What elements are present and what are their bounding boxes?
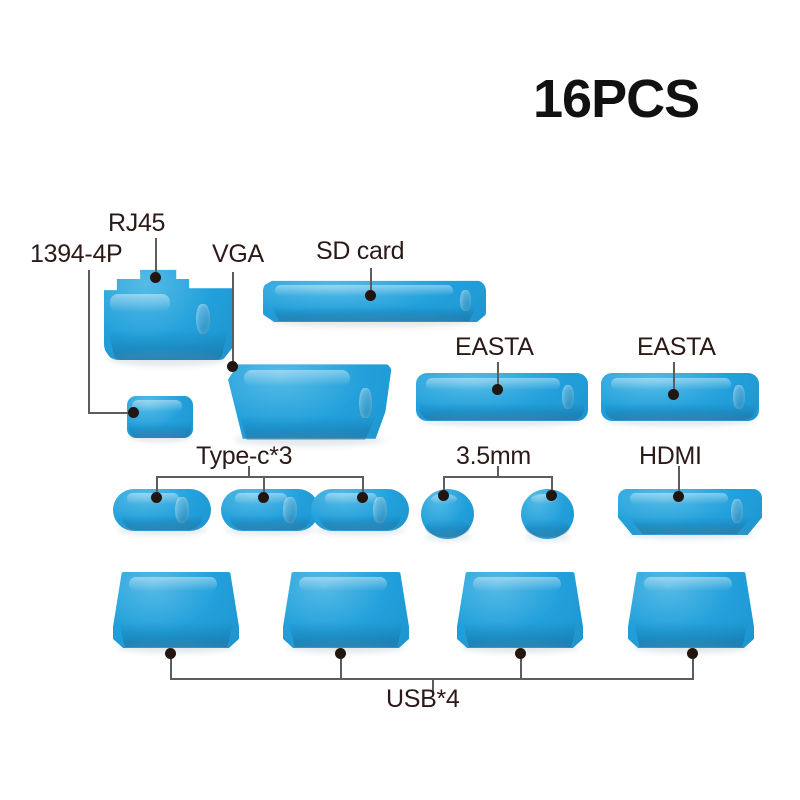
label-sd-card: SD card [316, 237, 404, 266]
page-title: 16PCS [533, 68, 699, 130]
label-1394-4p: 1394-4P [30, 240, 122, 269]
plug-3-5mm-1-drop-shadow [425, 532, 471, 541]
plug-easta-1-drop-shadow [420, 415, 584, 426]
plug-hdmi-drop-shadow [626, 529, 754, 539]
plug-rj45-nub [196, 304, 210, 334]
plug-usb-4-body [628, 572, 754, 648]
leader-dot-usb-3 [515, 648, 526, 659]
label-hdmi: HDMI [639, 442, 702, 471]
leader-dot-rj45 [150, 272, 161, 283]
leader-3-5mm-bar [443, 476, 553, 478]
plug-type-c-2-nub [283, 497, 297, 523]
label-usb: USB*4 [386, 685, 460, 714]
plug-type-c-3-drop-shadow [315, 525, 405, 535]
leader-type-c-bar [156, 476, 364, 478]
plug-rj45-body [104, 268, 233, 360]
plug-type-c-1-drop-shadow [117, 525, 207, 535]
product-image: 16PCS [0, 0, 800, 800]
plug-hdmi-nub [731, 499, 743, 523]
leader-dot-type-c-2 [258, 492, 269, 503]
plug-usb-2 [283, 572, 409, 648]
label-easta-2: EASTA [637, 333, 716, 362]
leader-vga [232, 272, 234, 368]
leader-dot-sd-card [365, 290, 376, 301]
plug-easta-2 [601, 373, 759, 421]
plug-vga [228, 362, 392, 442]
leader-1394-4p-horizontal [88, 412, 133, 414]
plug-usb-2-drop-shadow [287, 642, 405, 653]
plug-rj45 [104, 268, 233, 360]
leader-1394-4p-vertical [88, 270, 90, 414]
leader-dot-usb-1 [165, 648, 176, 659]
plug-easta-1-nub [562, 385, 574, 409]
plug-usb-4 [628, 572, 754, 648]
plug-sd-card-nub [460, 290, 471, 311]
leader-dot-usb-4 [687, 648, 698, 659]
leader-dot-3-5mm-2 [546, 490, 557, 501]
plug-1394-4p-drop-shadow [129, 432, 191, 442]
leader-dot-hdmi [673, 491, 684, 502]
plug-usb-1 [113, 572, 239, 648]
leader-dot-usb-2 [335, 648, 346, 659]
plug-usb-3-body [457, 572, 583, 648]
label-easta-1: EASTA [455, 333, 534, 362]
plug-sd-card-drop-shadow [269, 316, 479, 327]
leader-dot-easta-2 [668, 389, 679, 400]
label-3-5mm: 3.5mm [456, 442, 531, 471]
plug-type-c-3-nub [373, 497, 387, 523]
plug-easta-2-drop-shadow [605, 415, 755, 426]
plug-3-5mm-2-drop-shadow [525, 532, 571, 541]
plug-easta-2-nub [733, 385, 745, 409]
leader-dot-vga [227, 361, 238, 372]
plug-usb-2-body [283, 572, 409, 648]
leader-dot-easta-1 [492, 384, 503, 395]
leader-dot-type-c-3 [357, 492, 368, 503]
leader-dot-type-c-1 [151, 492, 162, 503]
plug-rj45-drop-shadow [108, 352, 226, 366]
plug-type-c-1-nub [175, 497, 189, 523]
label-type-c: Type-c*3 [196, 442, 292, 471]
leader-dot-1394-4p [128, 407, 139, 418]
label-rj45: RJ45 [108, 209, 165, 238]
plug-type-c-2-drop-shadow [225, 525, 315, 535]
plug-vga-nub [359, 388, 372, 418]
plug-usb-1-body [113, 572, 239, 648]
label-vga: VGA [212, 240, 264, 269]
plug-usb-1-drop-shadow [117, 642, 235, 653]
leader-dot-3-5mm-1 [438, 490, 449, 501]
plug-usb-3 [457, 572, 583, 648]
plug-easta-1 [416, 373, 588, 421]
